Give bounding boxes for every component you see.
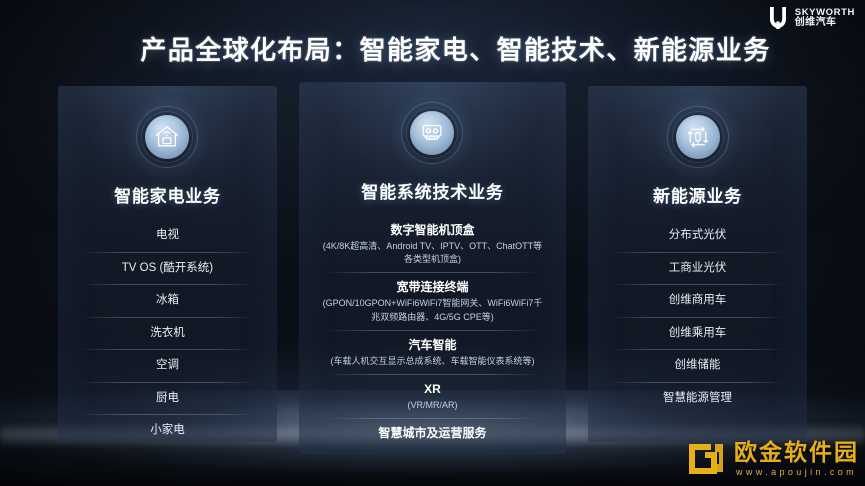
list-item: 小家电 bbox=[68, 414, 267, 442]
business-column-smart-systems: 智能系统技术业务 数字智能机顶盒 (4K/8K超高清、Android TV、IP… bbox=[299, 82, 566, 454]
brand-logo: SKYWORTH 创维汽车 bbox=[767, 5, 855, 31]
list-item: 分布式光伏 bbox=[598, 219, 797, 252]
watermark-name: 欧金软件园 bbox=[734, 441, 859, 464]
watermark-url: www.apoujin.com bbox=[734, 467, 859, 477]
item-label: 创维乘用车 bbox=[602, 326, 793, 342]
robot-icon bbox=[401, 102, 463, 164]
column-title: 新能源业务 bbox=[588, 182, 807, 207]
list-item: 数字智能机顶盒 (4K/8K超高清、Android TV、IPTV、OTT、Ch… bbox=[309, 215, 556, 272]
item-label: 汽车智能 bbox=[315, 337, 550, 353]
business-column-smart-home: 智能家电业务 电视 TV OS (酷开系统) 冰箱 洗衣机 空调 厨电 小家电 bbox=[58, 86, 277, 442]
apoujin-logo-icon bbox=[685, 438, 727, 480]
brand-name-cn: 创维汽车 bbox=[795, 18, 855, 28]
column-title: 智能系统技术业务 bbox=[299, 178, 566, 203]
item-sublabel: (VR/MR/AR) bbox=[315, 399, 550, 412]
business-column-new-energy: 新能源业务 分布式光伏 工商业光伏 创维商用车 创维乘用车 创维储能 智慧能源管… bbox=[588, 86, 807, 442]
business-columns: 智能家电业务 电视 TV OS (酷开系统) 冰箱 洗衣机 空调 厨电 小家电 bbox=[58, 86, 807, 442]
item-sublabel: (GPON/10GPON+WiFi6WiFi7智能网关、WiFi6WiFi7千兆… bbox=[315, 297, 550, 323]
list-item: 冰箱 bbox=[68, 284, 267, 317]
item-label: 工商业光伏 bbox=[602, 261, 793, 277]
item-label: 智慧城市及运营服务 bbox=[315, 425, 550, 441]
column-item-list: 分布式光伏 工商业光伏 创维商用车 创维乘用车 创维储能 智慧能源管理 bbox=[588, 219, 807, 414]
list-item: 工商业光伏 bbox=[598, 252, 797, 285]
list-item: 厨电 bbox=[68, 382, 267, 415]
item-label: 厨电 bbox=[72, 391, 263, 407]
list-item: 空调 bbox=[68, 349, 267, 382]
list-item: 智慧能源管理 bbox=[598, 382, 797, 415]
item-label: 冰箱 bbox=[72, 293, 263, 309]
list-item: 创维乘用车 bbox=[598, 317, 797, 350]
column-item-list: 数字智能机顶盒 (4K/8K超高清、Android TV、IPTV、OTT、Ch… bbox=[299, 215, 566, 447]
list-item: 电视 bbox=[68, 219, 267, 252]
list-item: XR (VR/MR/AR) bbox=[309, 374, 556, 418]
item-sublabel: (车载人机交互显示总成系统、车载智能仪表系统等) bbox=[315, 355, 550, 368]
item-label: 洗衣机 bbox=[72, 326, 263, 342]
list-item: TV OS (酷开系统) bbox=[68, 252, 267, 285]
watermark: 欧金软件园 www.apoujin.com bbox=[685, 438, 859, 480]
list-item: 洗衣机 bbox=[68, 317, 267, 350]
item-label: 智慧能源管理 bbox=[602, 391, 793, 407]
column-title: 智能家电业务 bbox=[58, 182, 277, 207]
list-item: 汽车智能 (车载人机交互显示总成系统、车载智能仪表系统等) bbox=[309, 330, 556, 374]
item-label: 宽带连接终端 bbox=[315, 279, 550, 295]
item-label: TV OS (酷开系统) bbox=[72, 261, 263, 277]
item-label: 数字智能机顶盒 bbox=[315, 222, 550, 238]
item-label: 创维储能 bbox=[602, 358, 793, 374]
item-label: 创维商用车 bbox=[602, 293, 793, 309]
item-label: 分布式光伏 bbox=[602, 228, 793, 244]
item-label: 空调 bbox=[72, 358, 263, 374]
item-label: 小家电 bbox=[72, 423, 263, 439]
new-energy-icon bbox=[667, 106, 729, 168]
watermark-text: 欧金软件园 www.apoujin.com bbox=[734, 441, 859, 477]
column-item-list: 电视 TV OS (酷开系统) 冰箱 洗衣机 空调 厨电 小家电 bbox=[58, 219, 277, 442]
list-item: 智慧城市及运营服务 bbox=[309, 418, 556, 447]
brand-logo-text: SKYWORTH 创维汽车 bbox=[795, 8, 855, 29]
smart-home-icon bbox=[136, 106, 198, 168]
list-item: 创维商用车 bbox=[598, 284, 797, 317]
brand-name-en: SKYWORTH bbox=[795, 8, 855, 18]
item-sublabel: (4K/8K超高清、Android TV、IPTV、OTT、ChatOTT等各类… bbox=[315, 240, 550, 266]
list-item: 创维储能 bbox=[598, 349, 797, 382]
list-item: 宽带连接终端 (GPON/10GPON+WiFi6WiFi7智能网关、WiFi6… bbox=[309, 272, 556, 329]
skyworth-u-logo-icon bbox=[767, 5, 789, 31]
page-title: 产品全球化布局：智能家电、智能技术、新能源业务 bbox=[0, 30, 865, 67]
item-label: XR bbox=[315, 381, 550, 397]
item-label: 电视 bbox=[72, 228, 263, 244]
